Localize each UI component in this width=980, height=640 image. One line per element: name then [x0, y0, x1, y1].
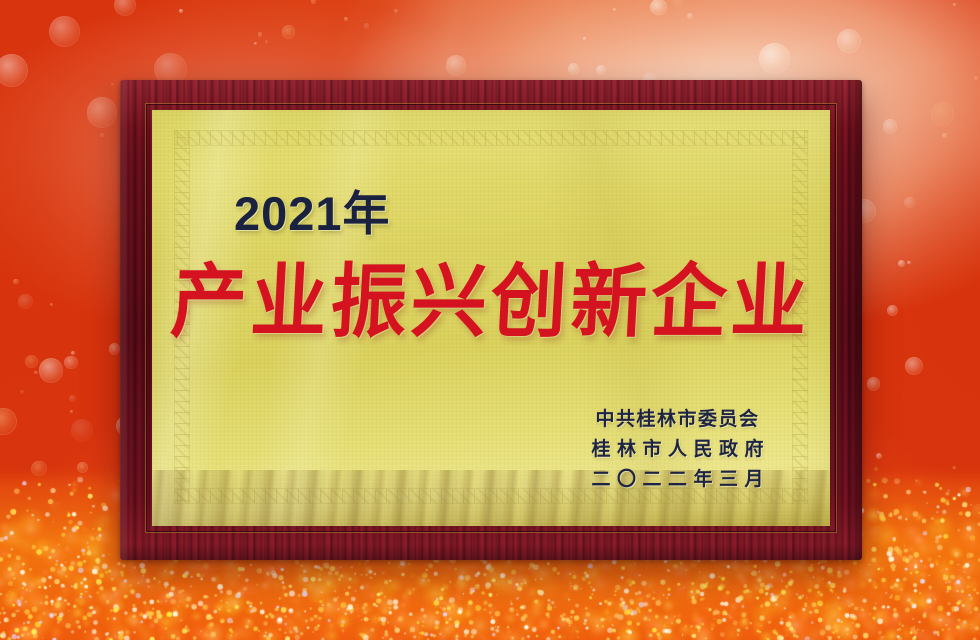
issue-date: 二〇二二年三月	[585, 470, 770, 489]
gold-plate: 2021年 产业振兴创新企业 中共桂林市委员会 桂林市人民政府 二〇二二年三月	[152, 110, 830, 526]
award-year: 2021年	[234, 190, 391, 237]
award-title: 产业振兴创新企业	[152, 262, 830, 343]
award-plaque-scene: 2021年 产业振兴创新企业 中共桂林市委员会 桂林市人民政府 二〇二二年三月	[0, 0, 980, 640]
wooden-frame: 2021年 产业振兴创新企业 中共桂林市委员会 桂林市人民政府 二〇二二年三月	[120, 80, 862, 560]
signature-block: 中共桂林市委员会 桂林市人民政府 二〇二二年三月	[585, 410, 770, 489]
issuer-government: 桂林市人民政府	[585, 440, 770, 459]
plate-content: 2021年 产业振兴创新企业 中共桂林市委员会 桂林市人民政府 二〇二二年三月	[152, 110, 830, 526]
issuer-party-committee: 中共桂林市委员会	[585, 410, 770, 429]
